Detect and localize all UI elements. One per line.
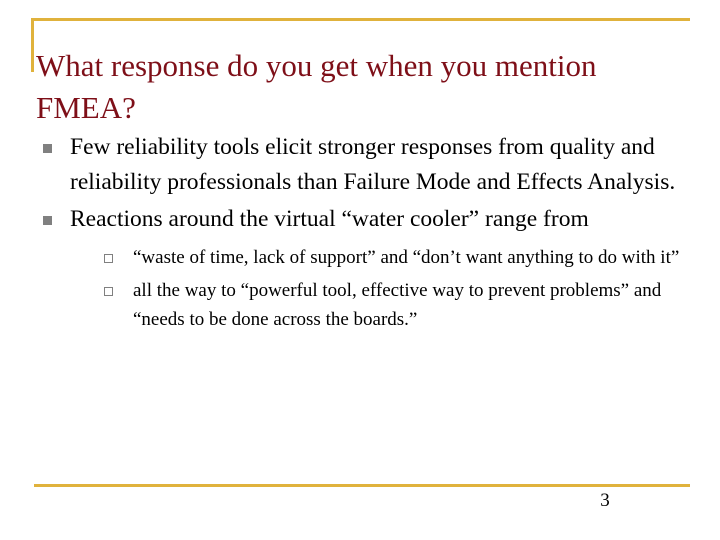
list-item-text: Reactions around the virtual “water cool… xyxy=(70,206,589,232)
slide-canvas: What response do you get when you mentio… xyxy=(0,0,720,540)
filled-square-bullet-icon xyxy=(43,144,52,153)
slide-body: Few reliability tools elicit stronger re… xyxy=(34,130,694,338)
title-top-rule-decoration xyxy=(31,18,690,21)
hollow-square-bullet-icon xyxy=(104,254,113,263)
list-item: Reactions around the virtual “water cool… xyxy=(34,202,694,334)
list-item-text: all the way to “powerful tool, effective… xyxy=(133,280,661,330)
list-item-text: “waste of time, lack of support” and “do… xyxy=(133,247,679,268)
title-left-rule-decoration xyxy=(31,18,34,72)
list-item: all the way to “powerful tool, effective… xyxy=(100,276,694,334)
slide-title: What response do you get when you mentio… xyxy=(36,45,692,129)
bullet-list-level2: “waste of time, lack of support” and “do… xyxy=(100,243,694,334)
list-item: “waste of time, lack of support” and “do… xyxy=(100,243,694,272)
list-item: Few reliability tools elicit stronger re… xyxy=(34,130,694,200)
footer-rule-decoration xyxy=(34,484,690,487)
hollow-square-bullet-icon xyxy=(104,287,113,296)
sub-bullet-container: “waste of time, lack of support” and “do… xyxy=(70,243,694,334)
bullet-list-level1: Few reliability tools elicit stronger re… xyxy=(34,130,694,334)
filled-square-bullet-icon xyxy=(43,216,52,225)
list-item-text: Few reliability tools elicit stronger re… xyxy=(70,134,675,195)
page-number: 3 xyxy=(560,489,650,513)
